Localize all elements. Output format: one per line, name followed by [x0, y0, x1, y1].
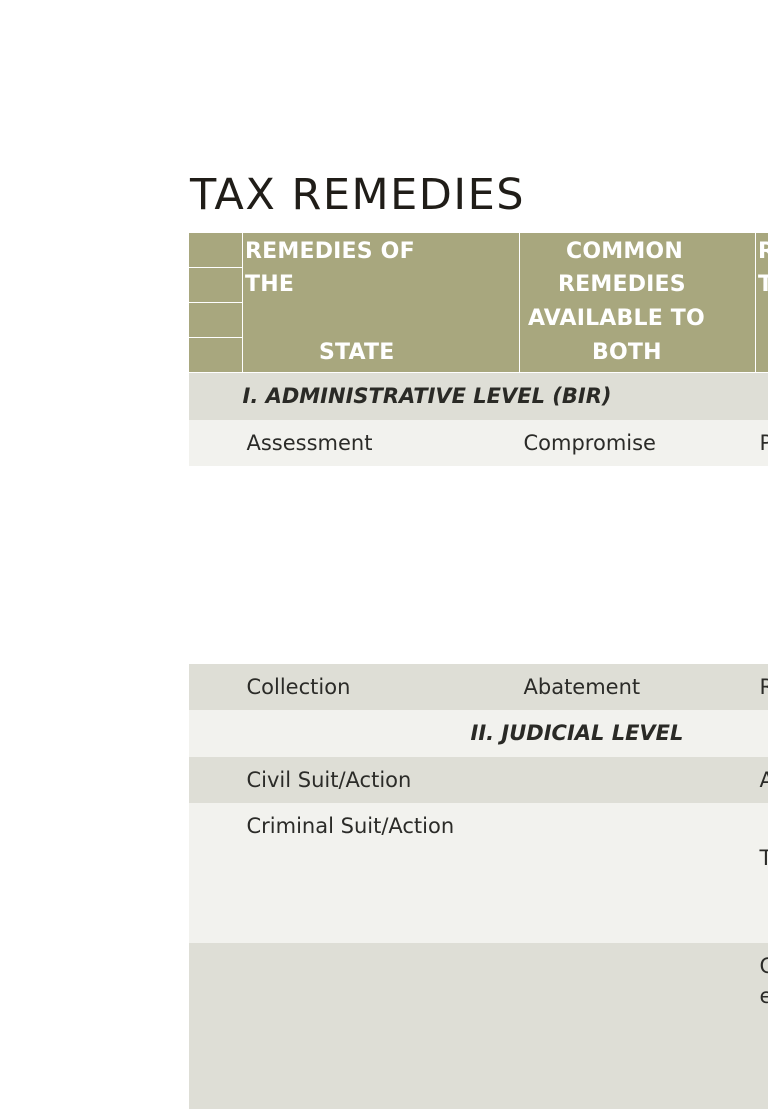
cell-common: Abatement [520, 664, 756, 710]
cell-common: Compromise [520, 420, 756, 466]
header-state-line2: THE [245, 268, 294, 301]
cell-taxpayer [756, 466, 768, 664]
row-gutter-cell [189, 466, 243, 664]
band-gutter-cell [189, 710, 243, 757]
cell-state [243, 943, 520, 1109]
band-gutter-cell [189, 373, 243, 421]
cell-common [520, 943, 756, 1109]
table-row: Criminal action against erring BIR offic… [189, 943, 768, 1109]
row-gutter-cell [189, 420, 243, 466]
header-state-line1: REMEDIES OF [245, 235, 415, 268]
header-gutter-cell [189, 268, 243, 303]
header-gutter-cell [189, 233, 243, 268]
table-row: Assessment Compromise Protest [189, 420, 768, 466]
section-band-judicial: II. JUDICIAL LEVEL [189, 710, 768, 757]
table-header-row-1: REMEDIES OF THE STATE COMMON REMEDIES AV… [189, 233, 768, 268]
page-title: TAX REMEDIES [190, 172, 525, 218]
section-label-administrative: I. ADMINISTRATIVE LEVEL (BIR) [243, 373, 768, 421]
header-gutter-cell [189, 303, 243, 338]
row-gutter-cell [189, 943, 243, 1109]
header-common-line4: BOTH [592, 336, 662, 369]
row-gutter-cell [189, 664, 243, 710]
cell-taxpayer: Protest [756, 420, 768, 466]
header-cell-state: REMEDIES OF THE STATE [243, 233, 520, 373]
section-band-administrative: I. ADMINISTRATIVE LEVEL (BIR) [189, 373, 768, 421]
section-label-judicial: II. JUDICIAL LEVEL [243, 710, 768, 757]
cell-state: Collection [243, 664, 520, 710]
header-common-line1: COMMON [566, 235, 683, 268]
cell-taxpayer: Refund [756, 664, 768, 710]
header-cell-common: COMMON REMEDIES AVAILABLE TO BOTH [520, 233, 756, 373]
tax-remedies-table-viewport: REMEDIES OF THE STATE COMMON REMEDIES AV… [188, 232, 768, 1109]
header-common-line2: REMEDIES [558, 268, 686, 301]
cell-taxpayer: Criminal action against erring BIR offic… [756, 943, 768, 1109]
header-cell-taxpayer: REMEDIES OF THE TAXPAYER [756, 233, 768, 373]
tax-remedies-table: REMEDIES OF THE STATE COMMON REMEDIES AV… [188, 232, 768, 1109]
header-state-line3: STATE [319, 336, 395, 369]
cell-state: Assessment [243, 420, 520, 466]
row-gutter-cell [189, 803, 243, 943]
table-row: Civil Suit/Action Appeal [189, 757, 768, 803]
header-taxpayer-line1: REMEDIES OF [758, 235, 768, 268]
row-gutter-cell [189, 757, 243, 803]
cell-taxpayer: TRO/Injunction [756, 803, 768, 943]
table-row: Criminal Suit/Action TRO/Injunction [189, 803, 768, 943]
cell-common [520, 757, 756, 803]
table-row: Collection Abatement Refund [189, 664, 768, 710]
header-gutter-cell [189, 338, 243, 373]
cell-state: Civil Suit/Action [243, 757, 520, 803]
cell-state [243, 466, 520, 664]
cell-common [520, 466, 756, 664]
cell-common [520, 803, 756, 943]
cell-state: Criminal Suit/Action [243, 803, 520, 943]
table-row-spacer [189, 466, 768, 664]
header-taxpayer-line2: THE [758, 268, 768, 301]
cell-taxpayer: Appeal [756, 757, 768, 803]
header-common-line3: AVAILABLE TO [528, 302, 705, 335]
